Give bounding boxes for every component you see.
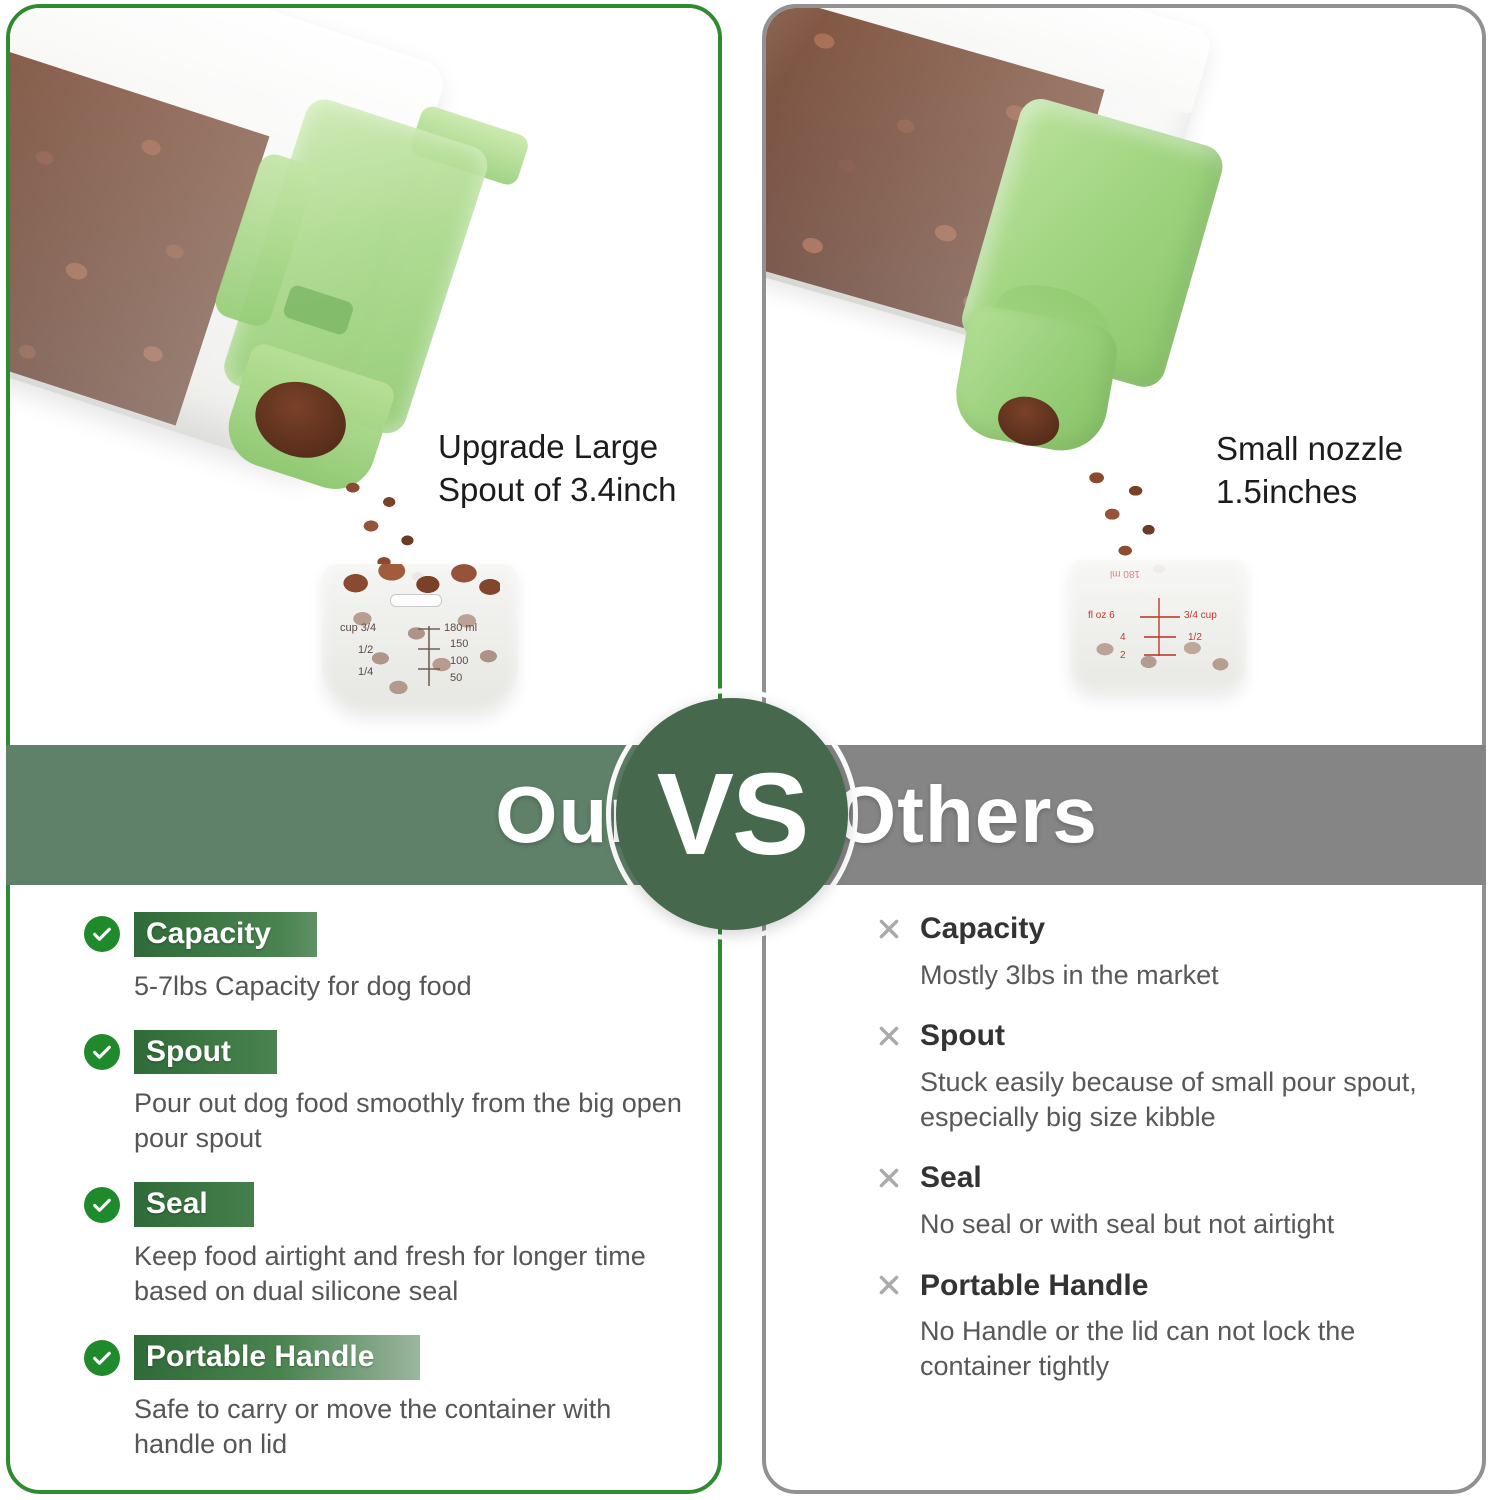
cup-mark-floz6: fl oz 6 [1088, 610, 1115, 621]
feature-desc: Safe to carry or move the container with… [134, 1392, 684, 1462]
cup-scale-bar [428, 626, 430, 686]
x-icon [872, 1268, 906, 1302]
measuring-cup-left: cup 3/4 1/2 1/4 180 ml 150 100 50 [322, 564, 518, 712]
others-heading: Others [820, 745, 1492, 885]
vs-badge: VS [606, 688, 858, 940]
cup-mark-150: 150 [450, 638, 468, 650]
others-callout: Small nozzle 1.5inches [1216, 428, 1403, 514]
cup-mark-half: 1/2 [358, 644, 373, 656]
feature-title: Spout [134, 1030, 277, 1075]
vs-badge-label: VS [616, 698, 848, 930]
check-icon [84, 1034, 120, 1070]
x-icon [872, 912, 906, 946]
cup-mark-180ml: 180 ml [444, 622, 477, 634]
cup-mark-4: 4 [1120, 632, 1126, 643]
feature-item: Seal No seal or with seal but not airtig… [872, 1161, 1442, 1242]
feature-desc: Pour out dog food smoothly from the big … [134, 1086, 684, 1156]
cup-mark-quarter: 1/4 [358, 666, 373, 678]
feature-item: Capacity Mostly 3lbs in the market [872, 912, 1442, 993]
feature-title: Spout [920, 1019, 1005, 1053]
others-callout-line2: 1.5inches [1216, 471, 1403, 514]
others-feature-list: Capacity Mostly 3lbs in the market Spout… [872, 912, 1442, 1411]
feature-desc: 5-7lbs Capacity for dog food [134, 969, 684, 1004]
ours-callout-line2: Spout of 3.4inch [438, 469, 677, 512]
feature-item: Spout Pour out dog food smoothly from th… [84, 1030, 684, 1157]
feature-desc: Keep food airtight and fresh for longer … [134, 1239, 684, 1309]
ours-callout-line1: Upgrade Large [438, 426, 677, 469]
measuring-cup-right: 180 ml fl oz 6 4 2 3/4 cup 1/2 [1070, 560, 1246, 692]
feature-desc: Stuck easily because of small pour spout… [920, 1065, 1442, 1135]
cup-scale: 180 ml fl oz 6 4 2 3/4 cup 1/2 [1084, 596, 1234, 670]
cup-scale: cup 3/4 1/2 1/4 180 ml 150 100 50 [340, 622, 504, 690]
feature-title: Capacity [920, 912, 1045, 946]
feature-title: Seal [920, 1161, 982, 1195]
ours-callout: Upgrade Large Spout of 3.4inch [438, 426, 677, 512]
cup-grip [390, 594, 442, 607]
feature-item: Portable Handle No Handle or the lid can… [872, 1268, 1442, 1384]
cup-mark-34cup: 3/4 cup [1184, 610, 1217, 621]
cup-mark-cup34: cup 3/4 [340, 622, 376, 634]
cup-mark-2: 2 [1120, 650, 1126, 661]
ours-heading: Ours [0, 745, 700, 885]
feature-title: Capacity [134, 912, 317, 957]
feature-item: Portable Handle Safe to carry or move th… [84, 1335, 684, 1462]
feature-title: Portable Handle [920, 1269, 1148, 1303]
feature-title: Portable Handle [134, 1335, 420, 1380]
others-callout-line1: Small nozzle [1216, 428, 1403, 471]
check-icon [84, 916, 120, 952]
feature-item: Capacity 5-7lbs Capacity for dog food [84, 912, 684, 1004]
x-icon [872, 1019, 906, 1053]
cup-mark-180ml: 180 ml [1110, 568, 1140, 579]
ours-product-photo: cup 3/4 1/2 1/4 180 ml 150 100 50 Upgrad… [10, 8, 718, 748]
feature-desc: No seal or with seal but not airtight [920, 1207, 1442, 1242]
feature-desc: Mostly 3lbs in the market [920, 958, 1442, 993]
feature-item: Spout Stuck easily because of small pour… [872, 1019, 1442, 1135]
check-icon [84, 1187, 120, 1223]
ours-feature-list: Capacity 5-7lbs Capacity for dog food Sp… [84, 912, 684, 1488]
feature-title: Seal [134, 1182, 254, 1227]
comparison-infographic: cup 3/4 1/2 1/4 180 ml 150 100 50 Upgrad… [0, 0, 1492, 1500]
cup-mark-100: 100 [450, 655, 468, 667]
cup-mark-50: 50 [450, 672, 462, 684]
feature-item: Seal Keep food airtight and fresh for lo… [84, 1182, 684, 1309]
cup-scale-bar [1158, 598, 1160, 656]
x-icon [872, 1161, 906, 1195]
check-icon [84, 1340, 120, 1376]
feature-desc: No Handle or the lid can not lock the co… [920, 1314, 1442, 1384]
cup-mark-half: 1/2 [1188, 632, 1202, 643]
